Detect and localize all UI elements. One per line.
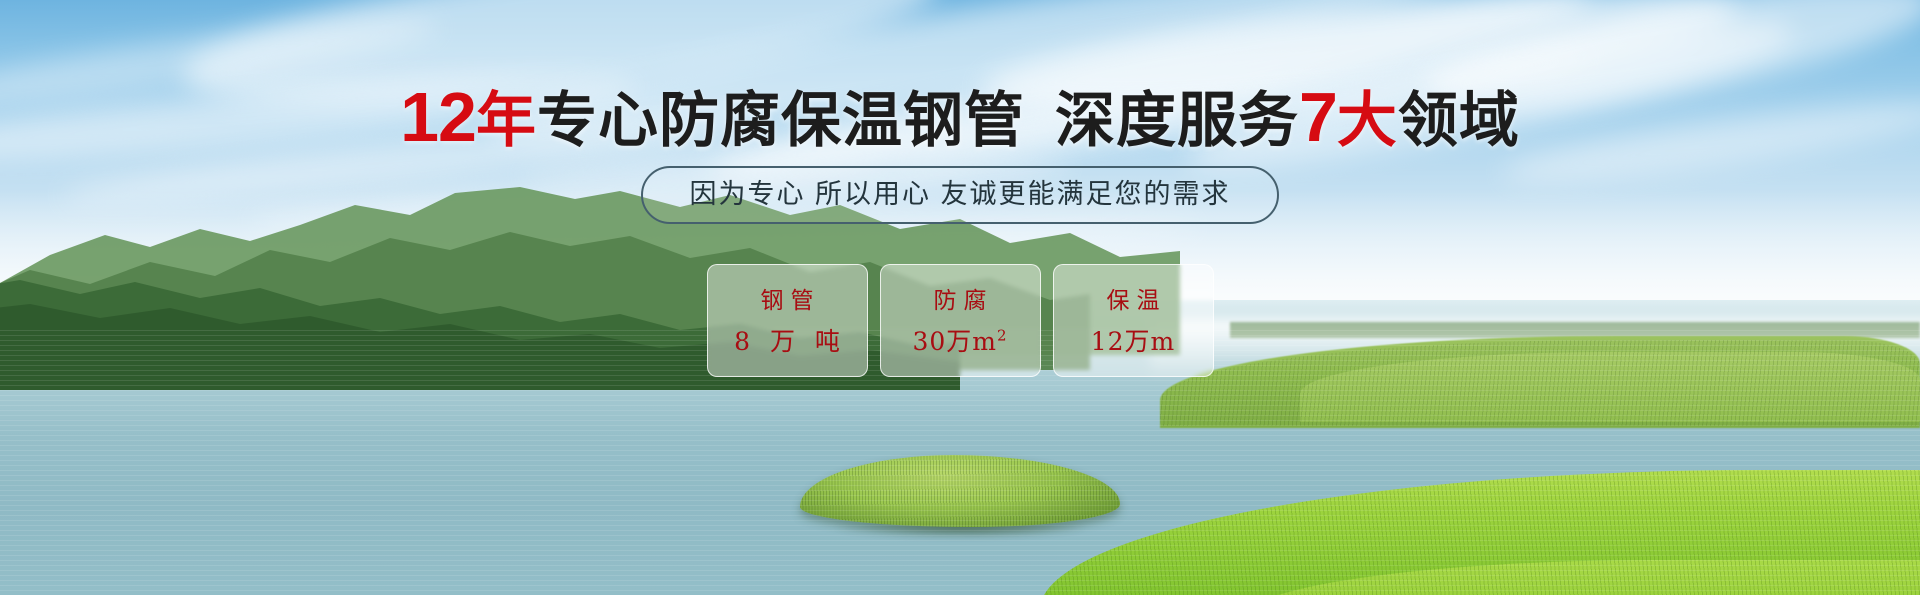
- headline-fields-number: 7: [1299, 78, 1337, 156]
- stat-card-insulation[interactable]: 保温 12万m: [1053, 264, 1214, 377]
- subtitle-container: 因为专心 所以用心 友诚更能满足您的需求: [0, 166, 1920, 224]
- promo-banner: 12年专心防腐保温钢管深度服务7大领域 因为专心 所以用心 友诚更能满足您的需求…: [0, 0, 1920, 595]
- stat-card-value-text: 12万m: [1091, 327, 1176, 356]
- subtitle-pill: 因为专心 所以用心 友诚更能满足您的需求: [641, 166, 1278, 224]
- headline: 12年专心防腐保温钢管深度服务7大领域: [0, 84, 1920, 154]
- stat-card-value-text: 8 万 吨: [734, 327, 846, 356]
- stat-card-label: 防腐: [927, 286, 994, 316]
- stat-card-value: 30万m2: [912, 327, 1007, 357]
- stat-card-anticorrosion[interactable]: 防腐 30万m2: [880, 264, 1041, 377]
- stat-card-label: 保温: [1100, 286, 1167, 316]
- banner-content: 12年专心防腐保温钢管深度服务7大领域 因为专心 所以用心 友诚更能满足您的需求…: [0, 0, 1920, 595]
- headline-main-phrase: 专心防腐保温钢管: [537, 87, 1025, 154]
- stat-cards: 钢管 8 万 吨 防腐 30万m2 保温 12万m: [0, 264, 1920, 377]
- stat-card-value-superscript: 2: [997, 327, 1008, 345]
- headline-fields-measure: 大: [1337, 87, 1398, 154]
- headline-service-phrase: 深度服务: [1055, 87, 1299, 154]
- stat-card-value: 8 万 吨: [728, 327, 846, 357]
- headline-years-unit: 年: [476, 87, 537, 154]
- stat-card-label: 钢管: [754, 286, 821, 316]
- headline-fields-word: 领域: [1398, 87, 1520, 154]
- stat-card-value-text: 30万m: [912, 327, 997, 356]
- stat-card-value: 12万m: [1091, 327, 1176, 357]
- headline-years-number: 12: [400, 78, 476, 156]
- stat-card-steel-pipe[interactable]: 钢管 8 万 吨: [707, 264, 868, 377]
